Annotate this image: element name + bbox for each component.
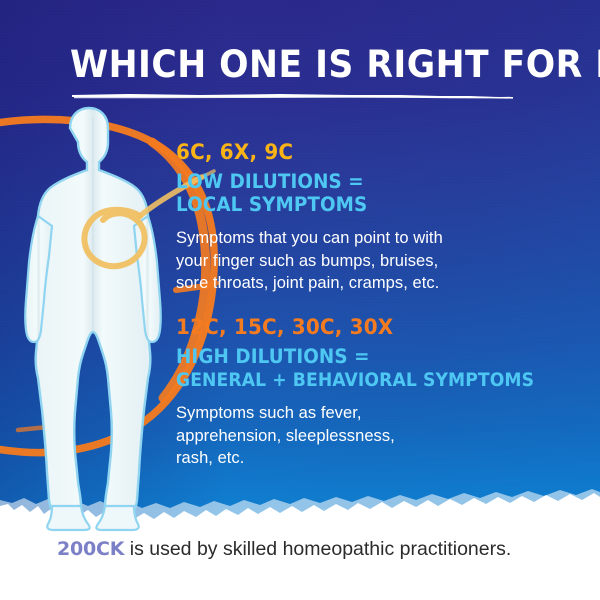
low-body-line3: sore throats, joint pain, cramps, etc.: [176, 272, 443, 295]
footer-potency-code: 200CK: [57, 538, 124, 560]
low-subhead-line2: LOCAL SYMPTOMS: [176, 194, 427, 217]
high-body-line3: rash, etc.: [176, 447, 572, 470]
high-body-line2: apprehension, sleeplessness,: [176, 425, 572, 448]
high-subhead-line1: HIGH DILUTIONS =: [176, 346, 548, 369]
low-dilutions-block: 6C, 6X, 9C LOW DILUTIONS = LOCAL SYMPTOM…: [176, 140, 443, 295]
footer-text: is used by skilled homeopathic practitio…: [124, 538, 511, 560]
infographic-poster: WHICH ONE IS RIGHT FOR ME? 6C, 6X, 9C LO…: [0, 0, 600, 600]
high-dilutions-block: 12C, 15C, 30C, 30X HIGH DILUTIONS = GENE…: [176, 315, 572, 470]
low-body-line2: your finger such as bumps, bruises,: [176, 250, 443, 273]
high-subhead-line2: GENERAL + BEHAVIORAL SYMPTOMS: [176, 369, 534, 392]
low-subhead-line1: LOW DILUTIONS =: [176, 171, 427, 194]
footer-note: 200CK is used by skilled homeopathic pra…: [57, 536, 511, 562]
high-dilution-label: 12C, 15C, 30C, 30X: [176, 315, 552, 339]
low-dilution-label: 6C, 6X, 9C: [176, 140, 429, 164]
page-title: WHICH ONE IS RIGHT FOR ME?: [70, 44, 509, 86]
high-body-line1: Symptoms such as fever,: [176, 402, 572, 425]
low-body-line1: Symptoms that you can point to with: [176, 227, 443, 250]
